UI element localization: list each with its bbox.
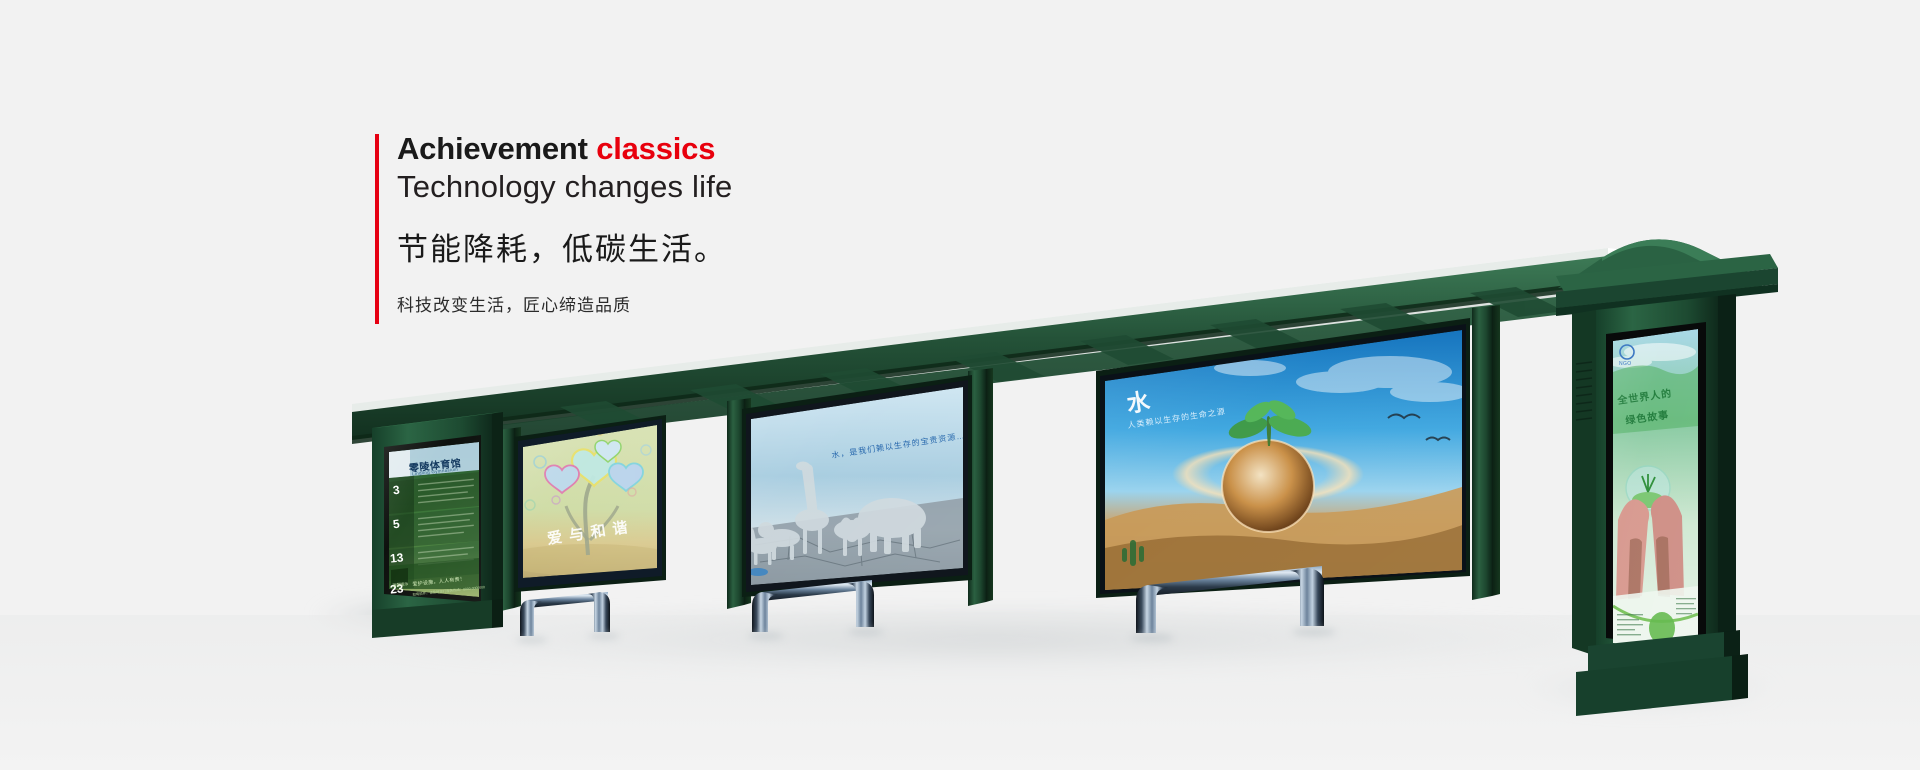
banner-stage: Achievement classics Technology changes … [0, 0, 1920, 770]
panel-love-harmony[interactable]: 爱与和谐 [500, 415, 680, 592]
shelter-scene: 爱与和谐 [0, 0, 1920, 770]
panel-timetable-cabinet[interactable] [372, 412, 503, 638]
canopy-front-beam [352, 256, 1762, 454]
panel-wildlife-water[interactable]: 水，是我们赖以生存的宝贵资源…… [742, 375, 975, 597]
